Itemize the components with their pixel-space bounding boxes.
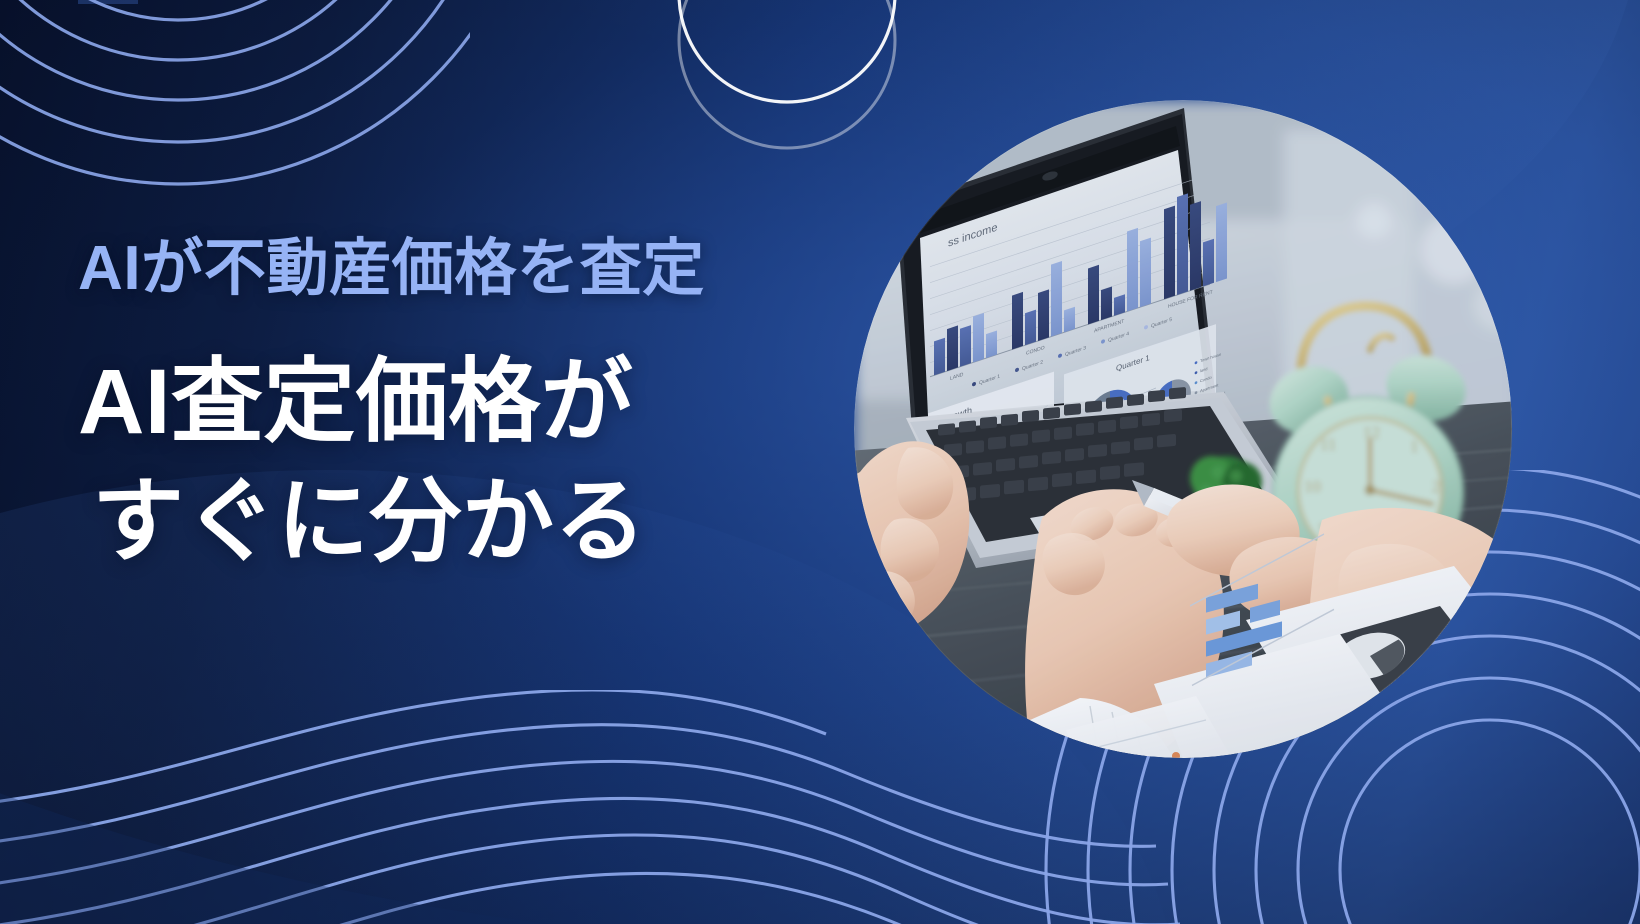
hero-headline: AI査定価格が すぐに分かる bbox=[78, 343, 868, 582]
hero-subtitle: AIが不動産価格を査定 bbox=[78, 236, 868, 303]
hero-copy: AIが不動産価格を査定 AI査定価格が すぐに分かる bbox=[78, 236, 868, 582]
hero-banner: ss income bbox=[0, 0, 1640, 924]
hero-headline-line2: すぐに分かる bbox=[78, 463, 868, 583]
hero-headline-line1: AI査定価格が bbox=[78, 351, 633, 453]
hero-photo: ss income bbox=[854, 100, 1512, 758]
office-desk-illustration: ss income bbox=[854, 100, 1512, 758]
